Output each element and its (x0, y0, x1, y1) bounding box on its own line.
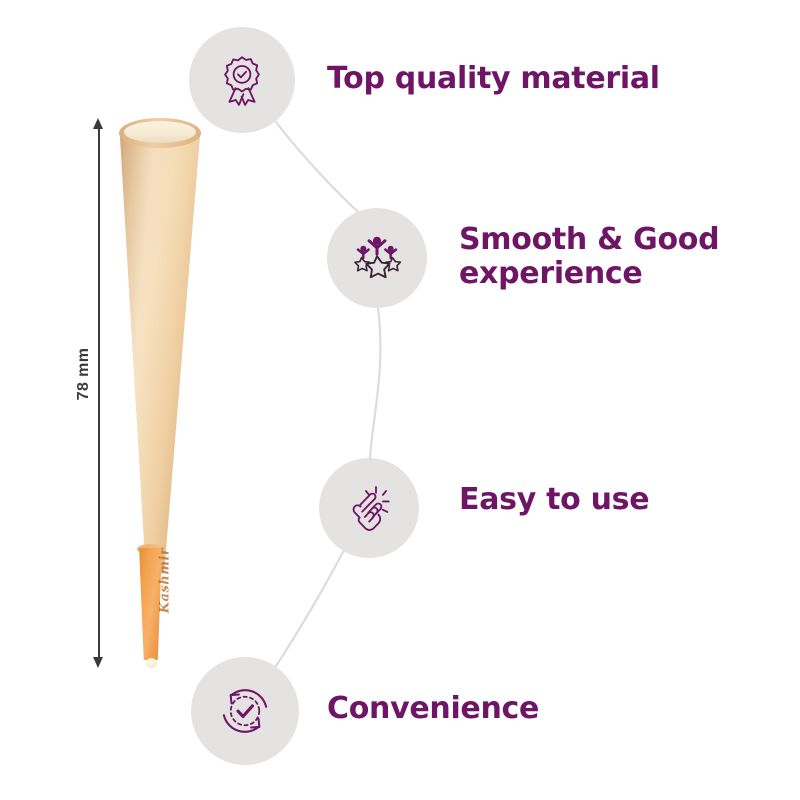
connector-1-2 (276, 122, 358, 212)
celebrating-people-stars-icon (347, 230, 407, 286)
award-ribbon-check-icon (214, 52, 270, 108)
feature-label-smooth-good-experience: Smooth & Good experience (459, 223, 719, 290)
cone-product-image: Kashmir (118, 118, 202, 666)
cone-brand-label: Kashmir (158, 546, 173, 616)
infographic-canvas: 78 mm Kashmir Top quality material (0, 0, 800, 800)
dimension-label: 78 mm (75, 334, 93, 414)
cone-bottom-tip (146, 658, 157, 668)
feature-label-easy-to-use: Easy to use (459, 483, 649, 517)
tap-hand-click-icon (341, 480, 397, 536)
arrow-head-down-icon (93, 657, 103, 668)
dimension-arrow (92, 118, 106, 668)
connector-2-3 (370, 308, 380, 458)
feature-label-convenience: Convenience (327, 692, 539, 726)
refresh-cycle-check-icon (215, 681, 275, 741)
cone-opening (124, 121, 196, 143)
arrow-shaft (98, 126, 100, 660)
cone-shading (118, 132, 202, 572)
feature-node-easy-to-use[interactable] (319, 458, 419, 558)
connector-3-4 (272, 550, 344, 672)
feature-node-smooth-good-experience[interactable] (327, 208, 427, 308)
feature-node-convenience[interactable] (191, 657, 299, 765)
feature-node-top-quality-material[interactable] (189, 27, 295, 133)
feature-label-top-quality-material: Top quality material (327, 62, 660, 96)
